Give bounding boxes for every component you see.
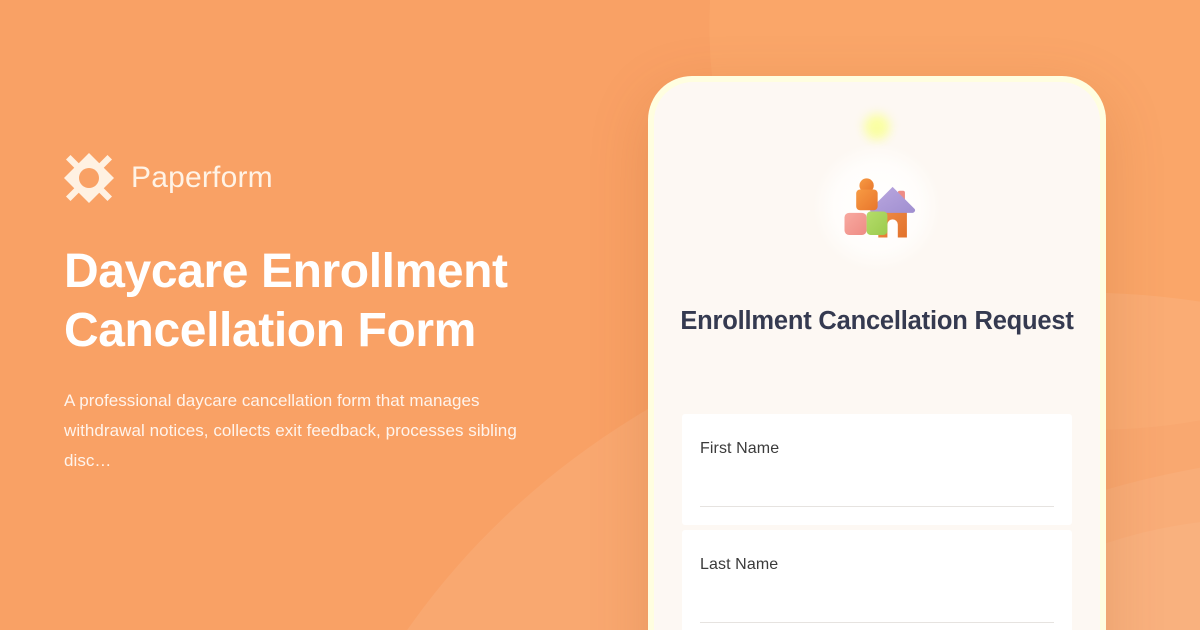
form-preview-title: Enrollment Cancellation Request — [680, 304, 1074, 338]
field-label-first-name: First Name — [700, 440, 1054, 458]
brand-name: Paperform — [131, 163, 273, 193]
field-underline-first-name — [700, 506, 1054, 507]
form-preview-screen: Enrollment Cancellation Request First Na… — [654, 82, 1100, 630]
notification-dot-icon — [864, 114, 890, 140]
form-preview-device: Enrollment Cancellation Request First Na… — [648, 76, 1106, 630]
form-cover-icon-wrapper — [814, 144, 940, 270]
form-field-first-name[interactable]: First Name — [682, 414, 1072, 525]
page-title: Daycare Enrollment Cancellation Form — [64, 243, 564, 360]
first-name-input[interactable] — [700, 472, 1054, 506]
field-underline-last-name — [700, 622, 1054, 623]
field-label-last-name: Last Name — [700, 556, 1054, 574]
page-description: A professional daycare cancellation form… — [64, 386, 524, 477]
form-field-last-name[interactable]: Last Name — [682, 530, 1072, 630]
toy-blocks-icon — [838, 171, 916, 243]
hero-text-column: Paperform Daycare Enrollment Cancellatio… — [64, 0, 624, 630]
brand-lockup: Paperform — [64, 153, 624, 203]
last-name-input[interactable] — [700, 588, 1054, 622]
og-image-canvas: Paperform Daycare Enrollment Cancellatio… — [0, 0, 1200, 630]
form-preview-fields: First Name Last Name — [682, 414, 1072, 630]
paperform-flower-logo-icon — [64, 153, 114, 203]
